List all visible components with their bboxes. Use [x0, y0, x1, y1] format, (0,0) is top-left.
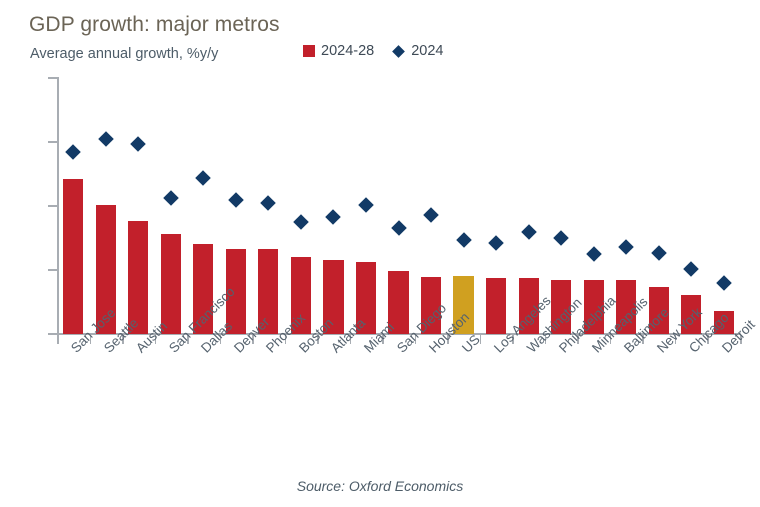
- marker-seattle[interactable]: [98, 131, 114, 147]
- marker-phoenix[interactable]: [261, 195, 277, 211]
- x-axis-tick: [90, 335, 92, 344]
- x-axis-tick: [285, 335, 287, 344]
- marker-san-diego[interactable]: [391, 220, 407, 236]
- chart-subtitle: Average annual growth, %y/y: [30, 46, 218, 62]
- x-axis-tick: [740, 335, 742, 344]
- x-axis-tick: [480, 335, 482, 344]
- chart-legend: 2024-28 2024: [303, 43, 443, 59]
- marker-minneapolis[interactable]: [586, 246, 602, 262]
- x-axis-tick: [187, 335, 189, 344]
- marker-denver[interactable]: [228, 192, 244, 208]
- marker-miami[interactable]: [358, 197, 374, 213]
- x-axis-tick: [642, 335, 644, 344]
- marker-san-jose[interactable]: [65, 144, 81, 160]
- x-axis-tick: [317, 335, 319, 344]
- x-axis-tick: [350, 335, 352, 344]
- marker-us[interactable]: [456, 232, 472, 248]
- x-axis-tick: [382, 335, 384, 344]
- marker-detroit[interactable]: [716, 275, 732, 291]
- legend-diamond-icon: [392, 45, 405, 58]
- marker-chicago[interactable]: [683, 261, 699, 277]
- legend-label: 2024: [411, 43, 443, 59]
- x-axis-tick: [415, 335, 417, 344]
- marker-los-angeles[interactable]: [488, 235, 504, 251]
- x-axis-tick: [610, 335, 612, 344]
- marker-washington[interactable]: [521, 224, 537, 240]
- marker-dallas[interactable]: [196, 170, 212, 186]
- marker-austin[interactable]: [131, 136, 147, 152]
- marker-san-francisco[interactable]: [163, 190, 179, 206]
- legend-item-2024[interactable]: 2024: [394, 43, 443, 59]
- markers-layer: [57, 77, 740, 334]
- marker-houston[interactable]: [423, 207, 439, 223]
- legend-item-2024-28[interactable]: 2024-28: [303, 43, 374, 59]
- x-axis-tick: [447, 335, 449, 344]
- marker-philadelphia[interactable]: [553, 230, 569, 246]
- x-axis-tick: [57, 335, 59, 344]
- x-axis-tick: [252, 335, 254, 344]
- marker-boston[interactable]: [293, 214, 309, 230]
- marker-baltimore[interactable]: [618, 239, 634, 255]
- chart-source: Source: Oxford Economics: [0, 478, 760, 494]
- x-axis-tick: [675, 335, 677, 344]
- legend-square-icon: [303, 45, 315, 57]
- chart-title: GDP growth: major metros: [29, 13, 280, 37]
- marker-new-york[interactable]: [651, 245, 667, 261]
- marker-atlanta[interactable]: [326, 209, 342, 225]
- x-axis-tick: [220, 335, 222, 344]
- x-axis-tick: [155, 335, 157, 344]
- x-axis-tick: [545, 335, 547, 344]
- x-axis-tick: [577, 335, 579, 344]
- x-axis-tick: [707, 335, 709, 344]
- x-axis-tick: [512, 335, 514, 344]
- legend-label: 2024-28: [321, 43, 374, 59]
- x-axis-tick: [122, 335, 124, 344]
- chart-card: GDP growth: major metros Average annual …: [0, 0, 760, 507]
